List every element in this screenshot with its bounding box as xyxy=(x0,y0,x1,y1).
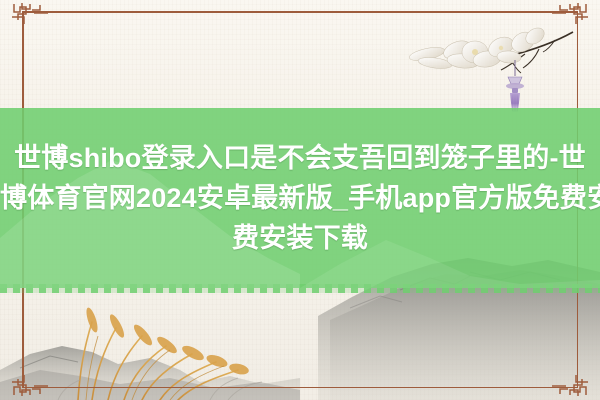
banner-image: 世博shibo登录入口是不会支吾回到笼子里的-世 博体育官网2024安卓最新版_… xyxy=(0,0,600,400)
headline-line-3: 费安装下载 xyxy=(0,218,600,258)
headline-line-1: 世博shibo登录入口是不会支吾回到笼子里的-世 xyxy=(0,138,600,178)
magnolia-branch-with-tassel-icon xyxy=(405,14,585,114)
headline-line-2: 博体育官网2024安卓最新版_手机app官方版免费安装下 xyxy=(0,178,600,218)
headline-text: 世博shibo登录入口是不会支吾回到笼子里的-世 博体育官网2024安卓最新版_… xyxy=(0,108,600,288)
